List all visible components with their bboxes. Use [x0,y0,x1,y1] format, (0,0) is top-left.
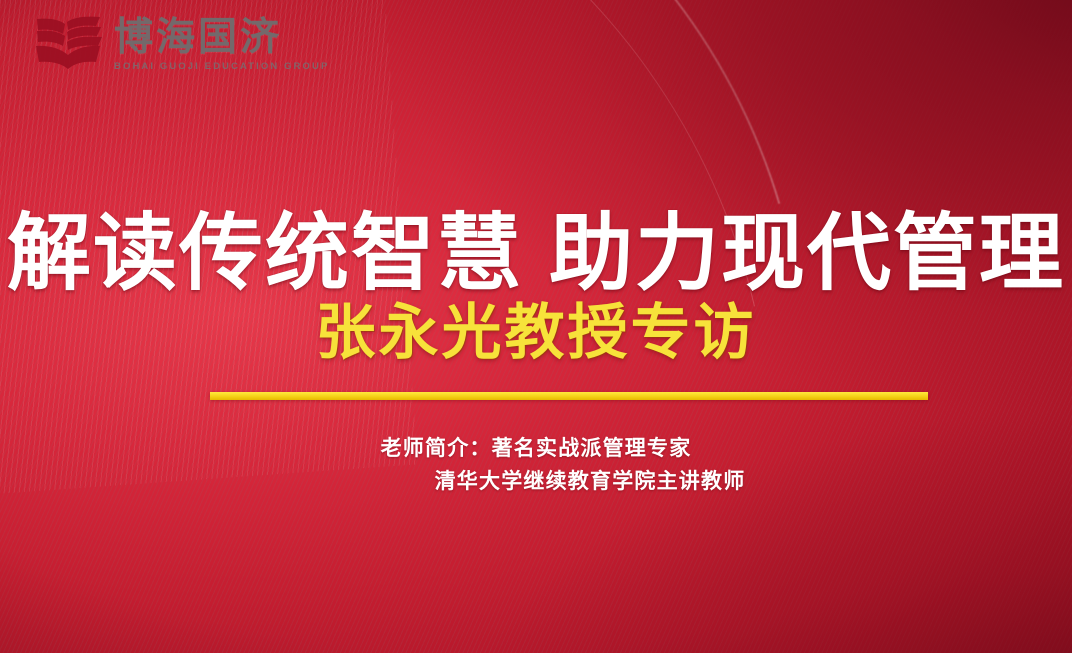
logo-english-name: BOHAI GUOJI EDUCATION GROUP [114,62,329,72]
slide-content: 解读传统智慧助力现代管理 张永光教授专访 老师简介：著名实战派管理专家 清华大学… [0,0,1072,653]
main-headline: 解读传统智慧助力现代管理 [0,211,1072,295]
headline-part-one: 解读传统智慧 [7,206,523,300]
yellow-divider-rule [210,392,928,400]
subtitle-speaker-interview: 张永光教授专访 [0,303,1072,363]
speaker-bio-text-one: 著名实战派管理专家 [492,437,692,460]
speaker-bio-block: 老师简介：著名实战派管理专家 清华大学继续教育学院主讲教师 [0,432,1072,498]
headline-part-two: 助力现代管理 [549,206,1065,300]
presentation-slide: 博海国济 BOHAI GUOJI EDUCATION GROUP 解读传统智慧助… [0,0,1072,653]
logo-chinese-name: 博海国济 [114,18,329,57]
bohai-guoji-book-mark-icon [34,16,104,74]
speaker-bio-line-two: 清华大学继续教育学院主讲教师 [0,465,1072,498]
brand-logo: 博海国济 BOHAI GUOJI EDUCATION GROUP [34,16,329,74]
speaker-bio-label: 老师简介： [381,437,492,460]
speaker-bio-line-one: 老师简介：著名实战派管理专家 [0,432,1072,465]
logo-text-block: 博海国济 BOHAI GUOJI EDUCATION GROUP [114,18,329,72]
speaker-bio-text-two: 清华大学继续教育学院主讲教师 [435,470,746,493]
